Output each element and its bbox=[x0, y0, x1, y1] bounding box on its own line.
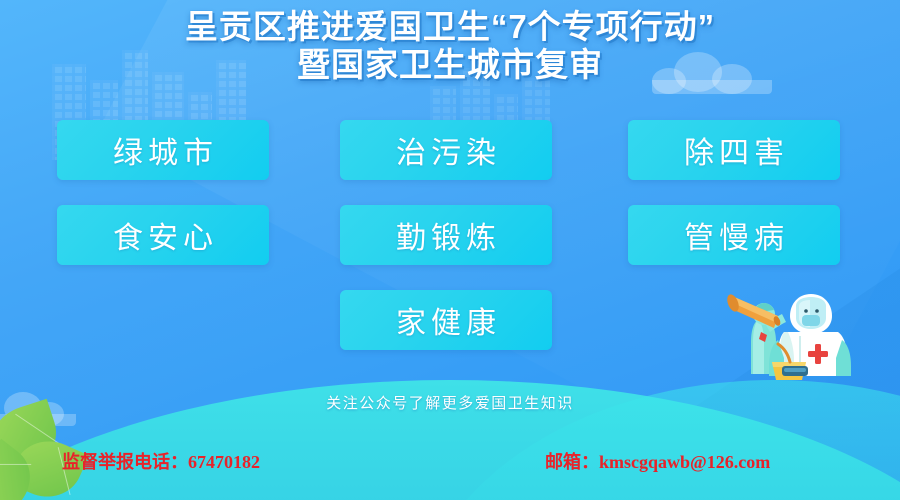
report-phone-value[interactable]: 67470182 bbox=[188, 452, 260, 472]
headline-line-1: 呈贡区推进爱国卫生“7个专项行动” bbox=[0, 8, 900, 46]
action-pill-food-safety[interactable]: 食安心 bbox=[57, 205, 269, 265]
action-pill-green-city[interactable]: 绿城市 bbox=[57, 120, 269, 180]
report-email: 邮箱：kmscgqawb@126.com bbox=[545, 448, 770, 474]
action-pill-grid: 绿城市 治污染 除四害 食安心 勤锻炼 管慢病 家健康 bbox=[0, 120, 900, 375]
report-phone: 监督举报电话：67470182 bbox=[62, 448, 260, 474]
report-phone-label: 监督举报电话： bbox=[62, 452, 188, 472]
action-pill-exercise[interactable]: 勤锻炼 bbox=[340, 205, 552, 265]
action-pill-pest-control[interactable]: 除四害 bbox=[628, 120, 840, 180]
action-pill-family-health[interactable]: 家健康 bbox=[340, 290, 552, 350]
poster-headline: 呈贡区推进爱国卫生“7个专项行动” 暨国家卫生城市复审 bbox=[0, 8, 900, 85]
action-row-3: 家健康 bbox=[0, 290, 900, 375]
action-pill-treat-pollution[interactable]: 治污染 bbox=[340, 120, 552, 180]
follow-account-note: 关注公众号了解更多爱国卫生知识 bbox=[0, 392, 900, 413]
poster-canvas: 呈贡区推进爱国卫生“7个专项行动” 暨国家卫生城市复审 绿城市 治污染 除四害 … bbox=[0, 0, 900, 500]
report-email-label: 邮箱： bbox=[545, 452, 599, 472]
headline-line-2: 暨国家卫生城市复审 bbox=[0, 46, 900, 84]
report-email-value[interactable]: kmscgqawb@126.com bbox=[599, 452, 770, 472]
action-row-2: 食安心 勤锻炼 管慢病 bbox=[0, 205, 900, 290]
action-pill-chronic-disease[interactable]: 管慢病 bbox=[628, 205, 840, 265]
action-row-1: 绿城市 治污染 除四害 bbox=[0, 120, 900, 205]
